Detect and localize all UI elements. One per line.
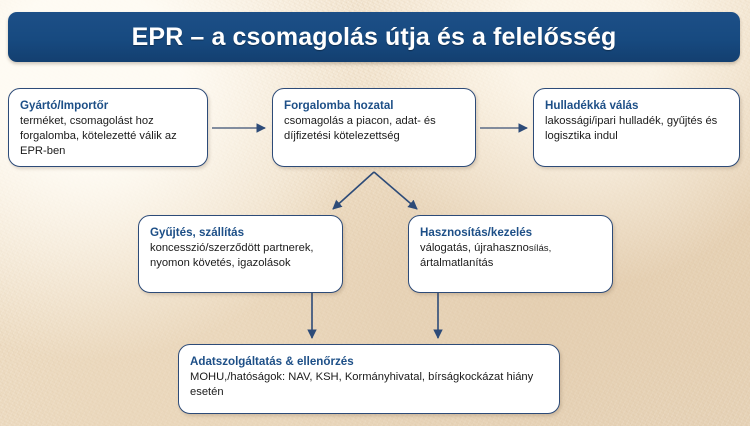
- flow-node-reporting-control-body: MOHU,/hatóságok: NAV, KSH, Kormányhivata…: [190, 370, 548, 400]
- flow-node-becoming-waste-body: lakossági/ipari hulladék, gyűjtés és log…: [545, 114, 728, 144]
- flow-node-collection-transport[interactable]: Gyűjtés, szállítás koncesszió/szerződött…: [138, 215, 343, 293]
- flow-node-becoming-waste-title: Hulladékká válás: [545, 98, 728, 113]
- flow-node-becoming-waste[interactable]: Hulladékká válás lakossági/ipari hulladé…: [533, 88, 740, 167]
- flow-node-collection-transport-body: koncesszió/szerződött partnerek, nyomon …: [150, 241, 331, 271]
- flow-node-reporting-control-title: Adatszolgáltatás & ellenőrzés: [190, 354, 548, 369]
- recovery-body-line1-a: válogatás, újrahaszno: [420, 242, 529, 254]
- arrow-placing-to-recovery: [374, 172, 417, 209]
- flow-node-manufacturer-title: Gyártó/Importőr: [20, 98, 196, 113]
- recovery-body-line2: ártalmatlanítás: [420, 257, 493, 269]
- flow-node-placing-on-market-title: Forgalomba hozatal: [284, 98, 464, 113]
- flow-node-manufacturer-body: terméket, csomagolást hoz forgalomba, kö…: [20, 114, 196, 160]
- flow-node-collection-transport-title: Gyűjtés, szállítás: [150, 225, 331, 240]
- flow-node-recovery-treatment-title: Hasznosítás/kezelés: [420, 225, 601, 240]
- flow-node-recovery-treatment[interactable]: Hasznosítás/kezelés válogatás, újrahaszn…: [408, 215, 613, 293]
- flow-node-manufacturer[interactable]: Gyártó/Importőr terméket, csomagolást ho…: [8, 88, 208, 167]
- flow-node-recovery-treatment-body: válogatás, újrahasznosílás, ártalmatlaní…: [420, 241, 601, 271]
- slide-title-bar: EPR – a csomagolás útja és a felelősség: [8, 12, 740, 62]
- slide-title: EPR – a csomagolás útja és a felelősség: [8, 12, 740, 62]
- slide-canvas: EPR – a csomagolás útja és a felelősség: [0, 0, 750, 426]
- arrow-placing-to-collection: [333, 172, 374, 209]
- flow-node-reporting-control[interactable]: Adatszolgáltatás & ellenőrzés MOHU,/ható…: [178, 344, 560, 414]
- flow-node-placing-on-market[interactable]: Forgalomba hozatal csomagolás a piacon, …: [272, 88, 476, 167]
- flow-node-placing-on-market-body: csomagolás a piacon, adat- és díjfizetés…: [284, 114, 464, 144]
- recovery-body-line1-b: sílás,: [529, 243, 551, 254]
